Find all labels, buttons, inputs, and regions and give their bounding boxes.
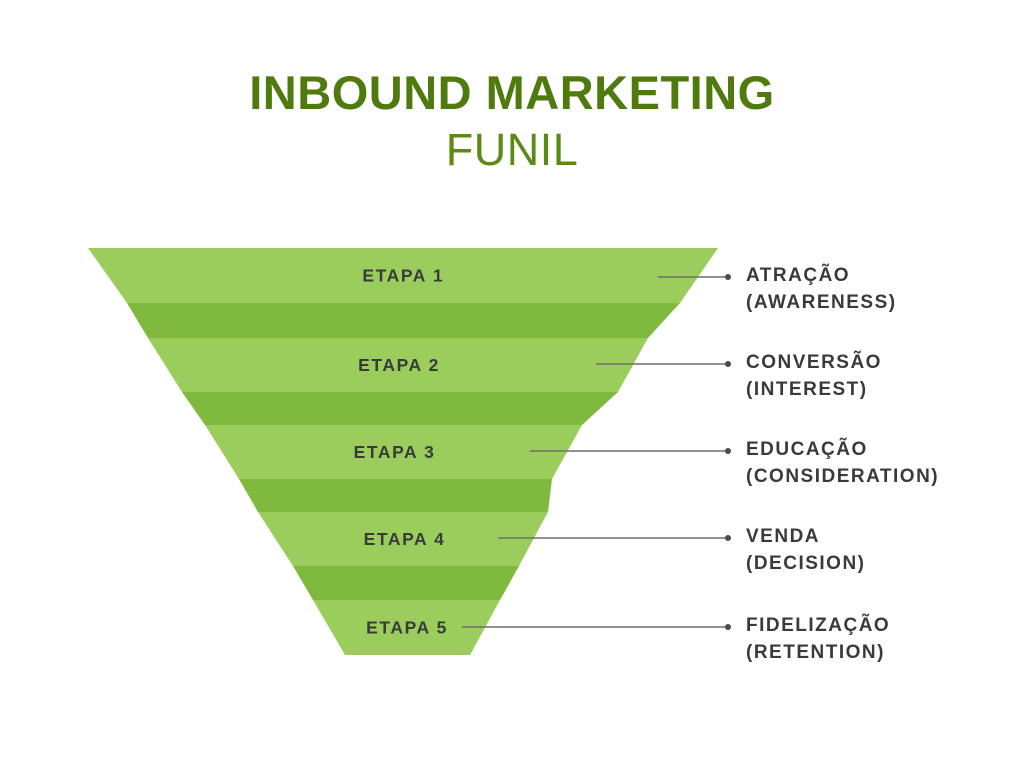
funnel-infographic-canvas: INBOUND MARKETING FUNIL ETAPA 1 ETAPA 2 … xyxy=(0,0,1024,768)
funnel-connector-3-4 xyxy=(239,479,552,512)
leader-arrow-1 xyxy=(725,274,731,280)
funnel-connector-4-5 xyxy=(293,566,519,600)
leader-arrow-3 xyxy=(725,448,731,454)
funnel-diagram: ETAPA 1 ETAPA 2 ETAPA 3 ETAPA 4 ETAPA 5 xyxy=(0,0,1024,768)
leader-arrow-2 xyxy=(725,361,731,367)
funnel-connector-1-2 xyxy=(127,303,680,338)
stage-label-1: ETAPA 1 xyxy=(362,266,444,286)
stage-label-2: ETAPA 2 xyxy=(358,355,440,375)
stage-label-4: ETAPA 4 xyxy=(364,529,446,549)
leader-arrow-4 xyxy=(725,535,731,541)
stage-label-3: ETAPA 3 xyxy=(354,442,436,462)
leader-arrow-5 xyxy=(725,624,731,630)
stage-label-5: ETAPA 5 xyxy=(366,618,448,638)
funnel-connector-2-3 xyxy=(182,392,618,425)
